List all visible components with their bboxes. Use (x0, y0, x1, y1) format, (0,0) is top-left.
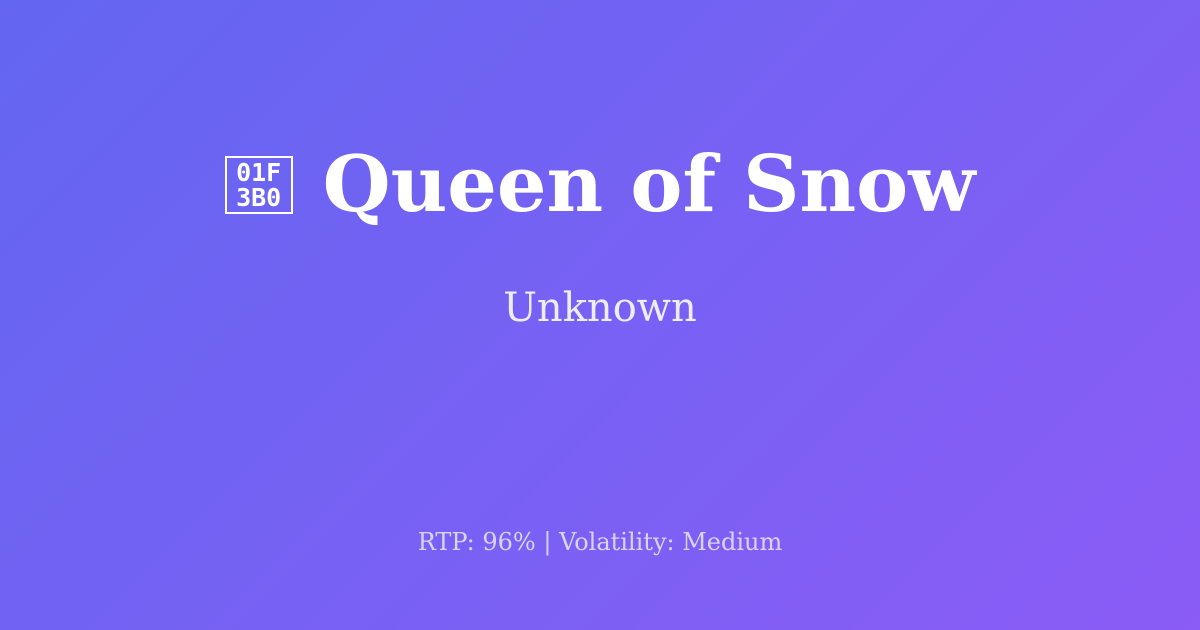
og-share-card: 01F 3B0 Queen of Snow Unknown RTP: 96% |… (0, 0, 1200, 630)
game-title: Queen of Snow (323, 144, 976, 226)
title-row: 01F 3B0 Queen of Snow (225, 144, 976, 226)
game-provider: Unknown (503, 284, 697, 332)
slot-machine-icon-codepoint-low: 3B0 (236, 185, 281, 210)
slot-machine-icon-codepoint-high: 01F (236, 160, 281, 185)
slot-machine-icon: 01F 3B0 (225, 156, 293, 214)
hero-block: 01F 3B0 Queen of Snow Unknown (0, 0, 1200, 500)
game-stats-line: RTP: 96% | Volatility: Medium (0, 528, 1200, 557)
